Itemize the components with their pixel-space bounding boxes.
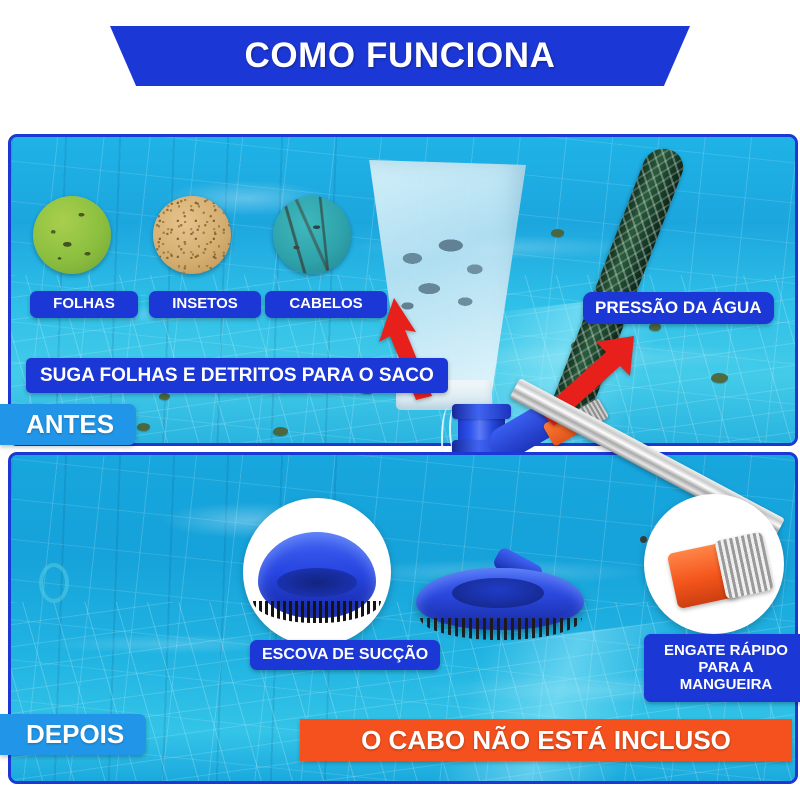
- callout-pressao-da-agua: PRESSÃO DA ÁGUA: [583, 292, 774, 324]
- debris-speck: [551, 229, 564, 237]
- detail-circle-brush: [243, 498, 391, 646]
- header-banner-wrap: COMO FUNCIONA: [0, 26, 800, 98]
- callout-suga-folhas: SUGA FOLHAS E DETRITOS PARA O SACO: [26, 358, 448, 393]
- tube-ring: [452, 404, 511, 419]
- infographic-page: COMO FUNCIONA: [0, 0, 800, 800]
- stage-badge-antes: ANTES: [0, 404, 136, 445]
- debris-speck: [159, 393, 170, 400]
- footer-disclaimer: O CABO NÃO ESTÁ INCLUSO: [300, 719, 792, 761]
- leaves-sample-icon: [33, 196, 111, 274]
- pool-wall-marking: [39, 563, 69, 603]
- engate-line-2: PARA A: [698, 660, 753, 677]
- insects-sample-icon: [153, 196, 231, 274]
- sample-label-cabelos: CABELOS: [265, 291, 387, 318]
- brush-head-illustration: [258, 532, 376, 618]
- hair-sample-icon: [273, 196, 351, 274]
- callout-escova-de-succao: ESCOVA DE SUCÇÃO: [250, 640, 440, 670]
- detail-circle-connector: [644, 494, 784, 634]
- engate-line-1: ENGATE RÁPIDO: [664, 643, 788, 660]
- debris-speck: [711, 373, 728, 383]
- debris-speck: [273, 427, 288, 436]
- callout-engate-rapido: ENGATE RÁPIDO PARA A MANGUEIRA: [644, 634, 800, 702]
- pole-lock-hole-icon: [640, 536, 647, 543]
- debris-speck: [137, 423, 150, 431]
- page-title: COMO FUNCIONA: [244, 36, 555, 76]
- stage-badge-depois: DEPOIS: [0, 714, 146, 755]
- sample-label-folhas: FOLHAS: [30, 291, 138, 318]
- brush-head-opening: [452, 578, 544, 608]
- sample-label-insetos: INSETOS: [149, 291, 261, 318]
- header-banner: COMO FUNCIONA: [110, 26, 690, 86]
- engate-line-3: MANGUEIRA: [680, 677, 773, 694]
- debris-speck: [649, 323, 661, 331]
